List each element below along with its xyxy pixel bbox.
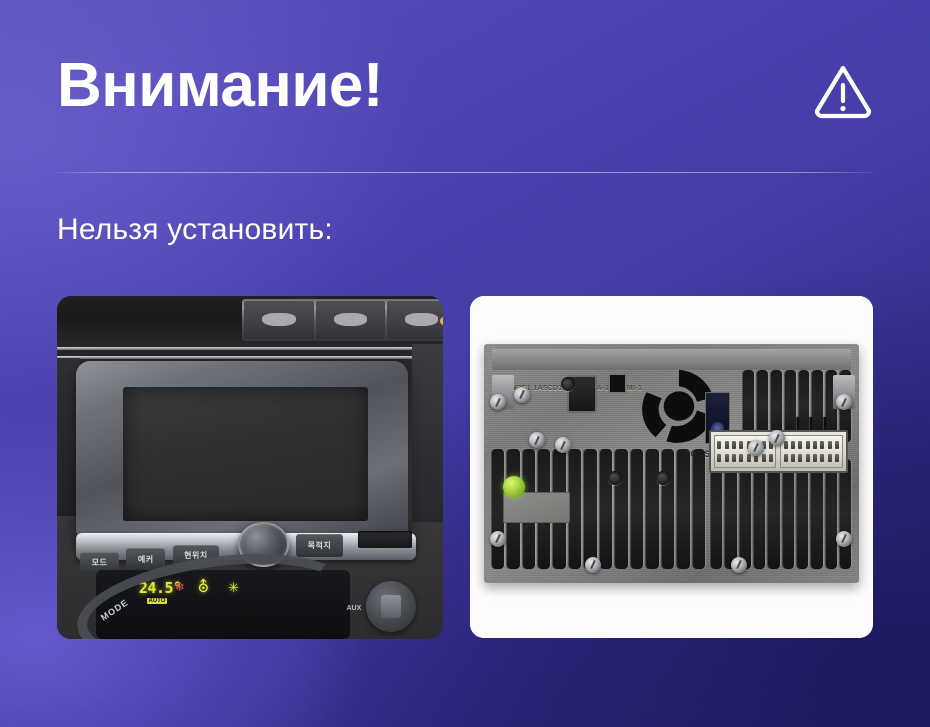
- heat-sink-fins-bottom-right: [711, 459, 852, 569]
- car-dashboard-photo: 모드 예커 현위치 목적지 24.5° AUTO ❄ ⛢ ✳ MODE AUX: [57, 296, 443, 639]
- mount-hole-1: [608, 471, 622, 485]
- header: Внимание!: [57, 55, 873, 175]
- chrome-trim-line-1: [57, 347, 443, 350]
- page-title: Внимание!: [57, 55, 873, 117]
- section-subtitle: Нельзя установить:: [57, 213, 333, 247]
- screw-1: [490, 394, 506, 410]
- warning-triangle-icon: [813, 61, 873, 121]
- head-unit-bezel: [76, 361, 408, 543]
- screw-10: [731, 557, 747, 573]
- screw-3: [529, 432, 545, 448]
- defroster-rear-icon: [244, 301, 313, 338]
- hazard-indicator-icon: [387, 301, 443, 338]
- disc-slot: [358, 531, 412, 548]
- defroster-button-strip: [242, 299, 443, 340]
- iso-connector-2: [780, 435, 842, 468]
- screw-2: [514, 387, 530, 403]
- header-divider: [57, 172, 873, 173]
- head-unit-screen: [123, 387, 369, 522]
- dashboard-image: 모드 예커 현위치 목적지 24.5° AUTO ❄ ⛢ ✳ MODE AUX: [57, 296, 443, 639]
- screw-5: [748, 440, 764, 456]
- dash-button-destination: 목적지: [296, 534, 342, 556]
- head-unit-chassis: W3E1 1A5CD1V 010A MA-J1CK MI-1 GPS: [484, 344, 859, 583]
- right-trim-panel: [412, 344, 443, 522]
- chrome-trim-line-2: [57, 356, 443, 359]
- directional-pad: [366, 581, 416, 632]
- screw-11: [836, 531, 852, 547]
- aux-label: AUX: [347, 605, 362, 612]
- head-unit-rear-photo: W3E1 1A5CD1V 010A MA-J1CK MI-1 GPS: [470, 296, 873, 638]
- screw-9: [585, 557, 601, 573]
- iso-connector-1: [714, 435, 776, 468]
- defroster-front-icon: [316, 301, 385, 338]
- screw-6: [769, 430, 785, 446]
- green-indicator-icon: [503, 476, 525, 498]
- square-port: [608, 373, 627, 395]
- page-background: Внимание! Нельзя установить:: [0, 0, 930, 727]
- head-unit-rear-image: W3E1 1A5CD1V 010A MA-J1CK MI-1 GPS: [470, 296, 873, 638]
- screw-8: [490, 531, 506, 547]
